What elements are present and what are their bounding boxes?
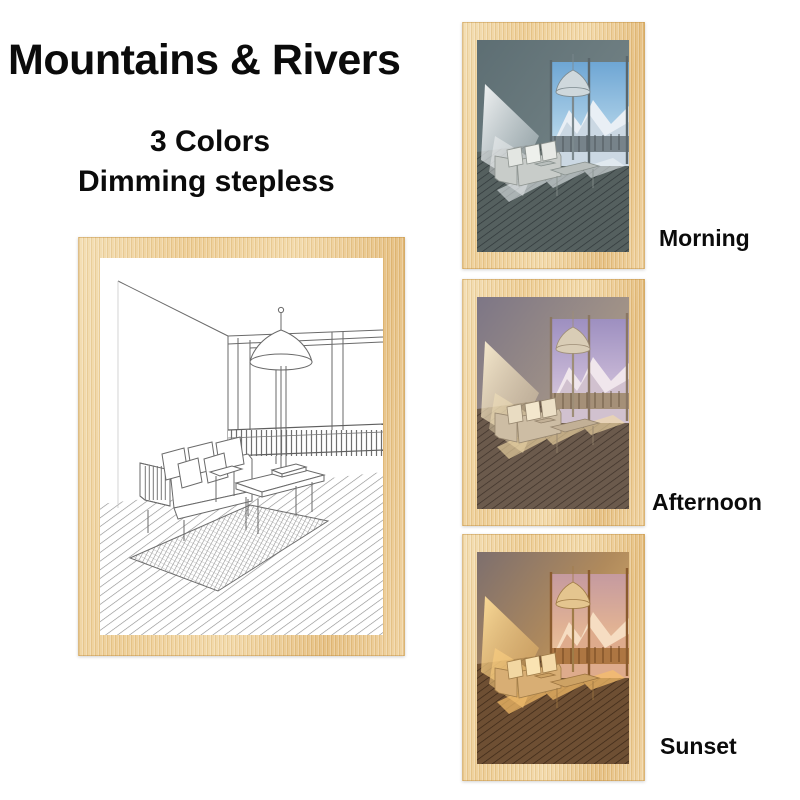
product-marketing-image: Mountains & Rivers 3 Colors Dimming step… [0, 0, 800, 800]
afternoon-artwork-lit [477, 297, 629, 509]
page-title: Mountains & Rivers [8, 36, 400, 85]
line-art-interior-drawing [100, 258, 383, 635]
caption-sunset: Sunset [660, 733, 737, 760]
afternoon-scene [477, 297, 629, 509]
sunset-scene [477, 552, 629, 764]
main-artwork-unlit [100, 258, 383, 635]
caption-afternoon: Afternoon [652, 489, 762, 516]
sunset-artwork-lit [477, 552, 629, 764]
subtitle-dimming: Dimming stepless [78, 165, 335, 199]
morning-scene [477, 40, 629, 252]
subtitle-colors: 3 Colors [150, 125, 270, 159]
caption-morning: Morning [659, 225, 750, 252]
morning-artwork-lit [477, 40, 629, 252]
